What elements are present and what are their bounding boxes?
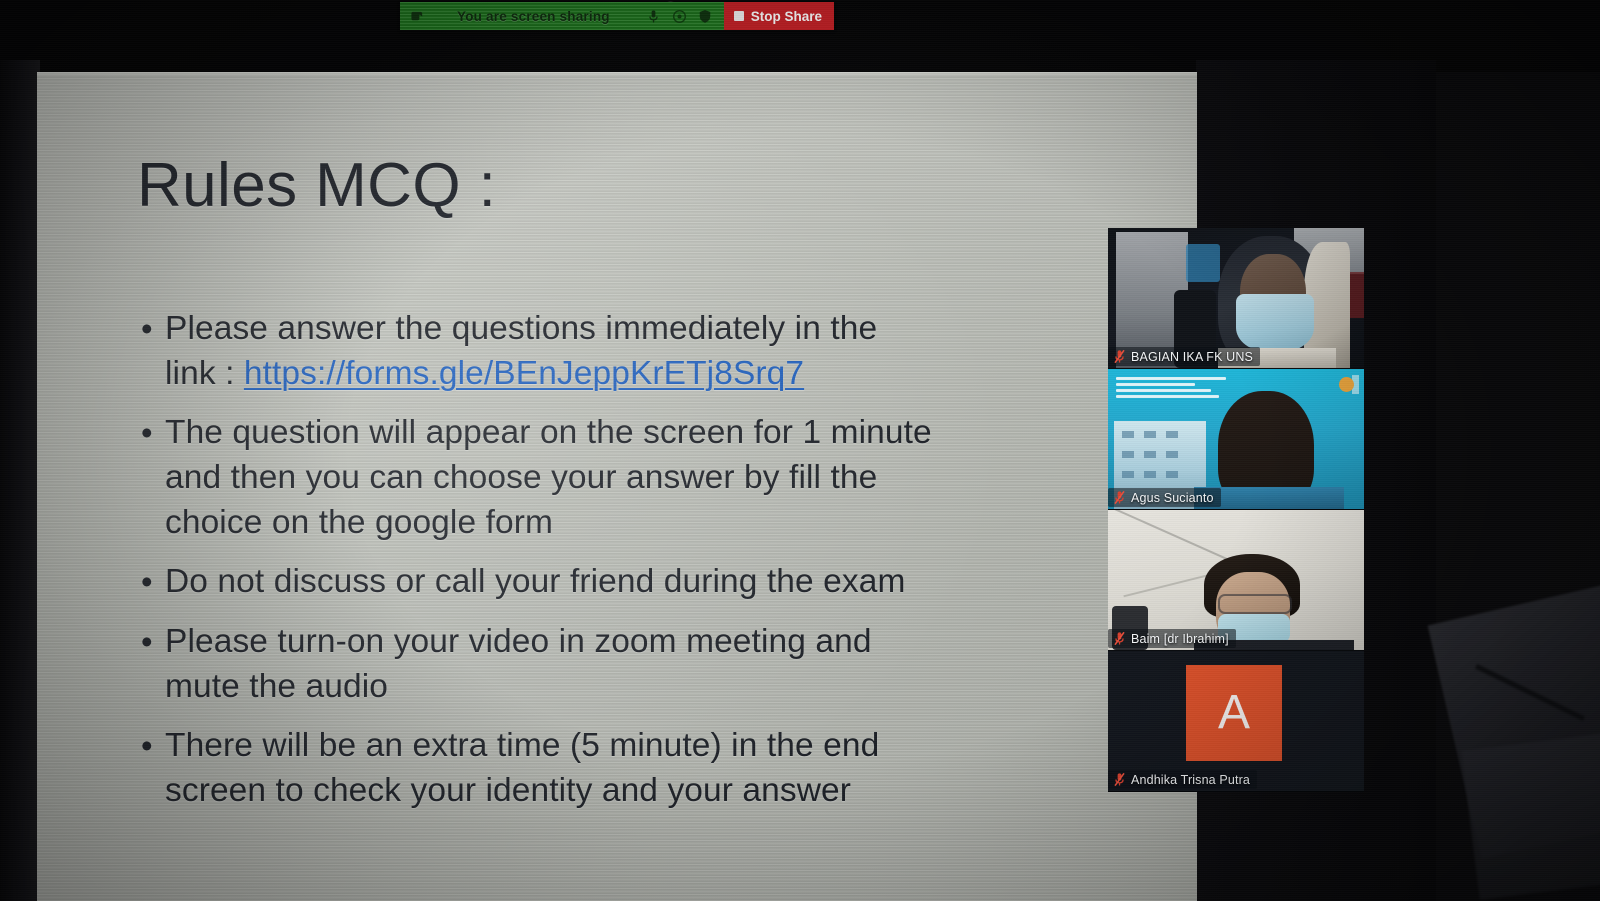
bullet-text: The question will appear on the screen f…	[165, 410, 932, 545]
sharing-status-label: You are screen sharing	[435, 9, 636, 24]
participant-name: Agus Sucianto	[1131, 491, 1214, 505]
list-item: •There will be an extra time (5 minute) …	[141, 723, 1131, 813]
bullet-list: •Please answer the questions immediately…	[141, 306, 1131, 827]
list-item: •Please turn-on your video in zoom meeti…	[141, 619, 1131, 709]
screen-share-toolbar[interactable]: You are screen sharing Stop Share	[400, 2, 834, 30]
participant-name-badge: Agus Sucianto	[1108, 488, 1221, 507]
avatar: A	[1186, 665, 1282, 761]
bullet-marker: •	[141, 619, 165, 665]
participant-tile[interactable]: Baim [dr Ibrahim]	[1108, 510, 1364, 651]
participant-name: Andhika Trisna Putra	[1131, 773, 1250, 787]
bullet-marker: •	[141, 559, 165, 605]
microphone-muted-icon	[1113, 772, 1126, 787]
microphone-muted-icon	[1113, 631, 1126, 646]
participant-tile[interactable]: BAGIAN IKA FK UNS	[1108, 228, 1364, 369]
list-item: •Do not discuss or call your friend duri…	[141, 559, 1131, 605]
participant-name-badge: BAGIAN IKA FK UNS	[1108, 347, 1260, 366]
microphone-icon[interactable]	[645, 8, 662, 25]
desk-notebook	[1461, 730, 1600, 900]
participant-name-badge: Andhika Trisna Putra	[1108, 770, 1257, 789]
bullet-text: Please answer the questions immediately …	[165, 306, 877, 396]
bullet-marker: •	[141, 410, 165, 456]
avatar-letter: A	[1218, 689, 1250, 737]
bullet-text: There will be an extra time (5 minute) i…	[165, 723, 879, 813]
bullet-text: Do not discuss or call your friend durin…	[165, 559, 906, 604]
stop-share-label: Stop Share	[751, 9, 822, 24]
bullet-marker: •	[141, 723, 165, 769]
participant-video-strip[interactable]: BAGIAN IKA FK UNS Agus Sucianto	[1108, 228, 1364, 792]
sharing-status-pill: You are screen sharing	[400, 2, 724, 30]
shared-slide: Rules MCQ : •Please answer the questions…	[37, 72, 1197, 901]
bullet-marker: •	[141, 306, 165, 352]
participant-name: BAGIAN IKA FK UNS	[1131, 350, 1253, 364]
stop-share-button[interactable]: Stop Share	[724, 2, 834, 30]
bullet-text: Please turn-on your video in zoom meetin…	[165, 619, 872, 709]
participant-name-badge: Baim [dr Ibrahim]	[1108, 629, 1236, 648]
participant-tile[interactable]: Agus Sucianto	[1108, 369, 1364, 510]
photographed-screen: Rules MCQ : •Please answer the questions…	[0, 0, 1600, 901]
page-title: Rules MCQ :	[137, 150, 496, 221]
stop-square-icon	[734, 11, 744, 21]
recording-icon[interactable]	[671, 8, 688, 25]
google-form-link[interactable]: https://forms.gle/BEnJeppKrETj8Srq7	[244, 355, 804, 392]
participant-tile[interactable]: A Andhika Trisna Putra	[1108, 651, 1364, 792]
shield-icon[interactable]	[697, 8, 714, 25]
microphone-muted-icon	[1113, 490, 1126, 505]
zoom-logo-icon	[409, 8, 426, 25]
microphone-muted-icon	[1113, 349, 1126, 364]
list-item: •Please answer the questions immediately…	[141, 306, 1131, 396]
participant-name: Baim [dr Ibrahim]	[1131, 632, 1229, 646]
list-item: •The question will appear on the screen …	[141, 410, 1131, 545]
monitor-left-bezel	[0, 60, 40, 901]
